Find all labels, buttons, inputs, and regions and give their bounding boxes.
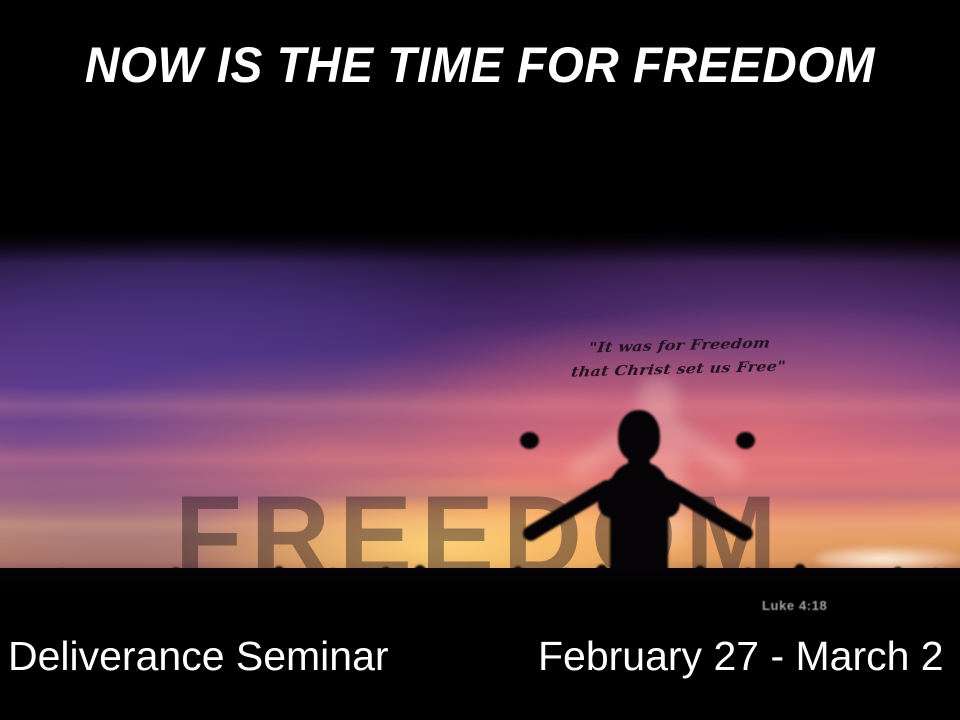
sunset-photo: FREEDOM — [0, 228, 960, 624]
figure-hand-left — [520, 432, 539, 449]
presentation-slide: NOW IS THE TIME FOR FREEDOM FREEDOM — [0, 0, 960, 720]
ground-silhouette — [0, 568, 960, 624]
scripture-reference: Luke 4:18 — [762, 598, 827, 613]
figure-hand-right — [736, 432, 755, 449]
figure-head — [618, 410, 660, 462]
footer-event-name: Deliverance Seminar — [8, 633, 389, 679]
slide-headline: NOW IS THE TIME FOR FREEDOM — [22, 36, 939, 94]
footer-event-dates: February 27 - March 2 — [538, 633, 944, 679]
